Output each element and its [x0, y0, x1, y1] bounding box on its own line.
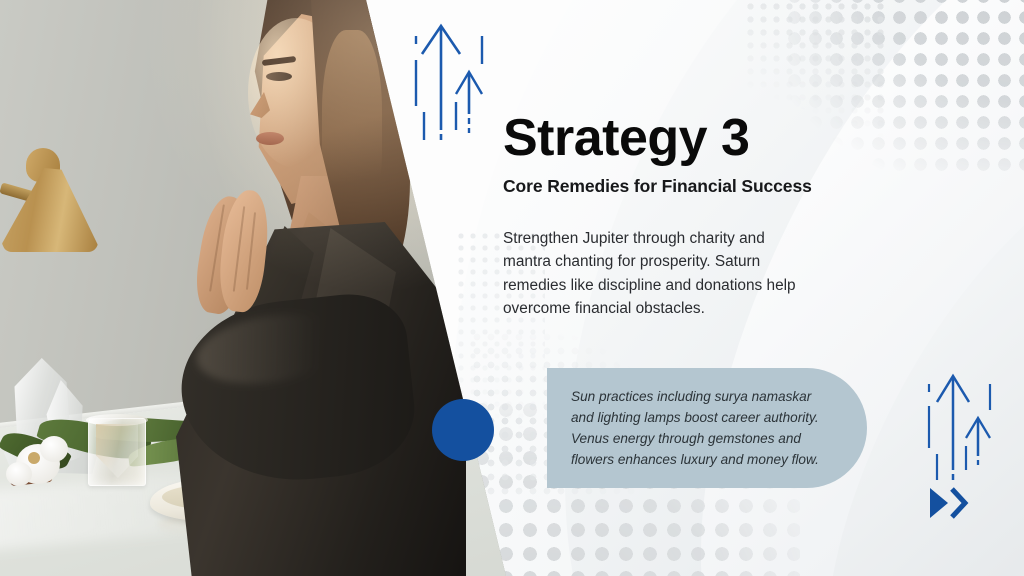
- up-arrows-icon-bottom: [921, 366, 1001, 486]
- photo-flower-3: [6, 462, 32, 486]
- up-arrows-icon-top: [406, 14, 492, 144]
- page-subtitle: Core Remedies for Financial Success: [503, 176, 903, 197]
- photo-eye: [266, 72, 292, 81]
- photo-lips: [256, 132, 284, 145]
- body-paragraph: Strengthen Jupiter through charity and m…: [503, 227, 803, 321]
- page-title: Strategy 3: [503, 112, 903, 165]
- text-column: Strategy 3 Core Remedies for Financial S…: [503, 112, 903, 321]
- photo-hair-highlight: [322, 30, 382, 230]
- callout-text: Sun practices including surya namaskar a…: [547, 386, 847, 470]
- slide-canvas: Strategy 3 Core Remedies for Financial S…: [0, 0, 1024, 576]
- double-chevron-right-icon: [928, 486, 976, 525]
- photo-flower-2: [40, 436, 68, 462]
- photo-flower-center: [28, 452, 40, 464]
- callout-box: Sun practices including surya namaskar a…: [547, 368, 867, 488]
- blue-circle-shape: [432, 399, 494, 461]
